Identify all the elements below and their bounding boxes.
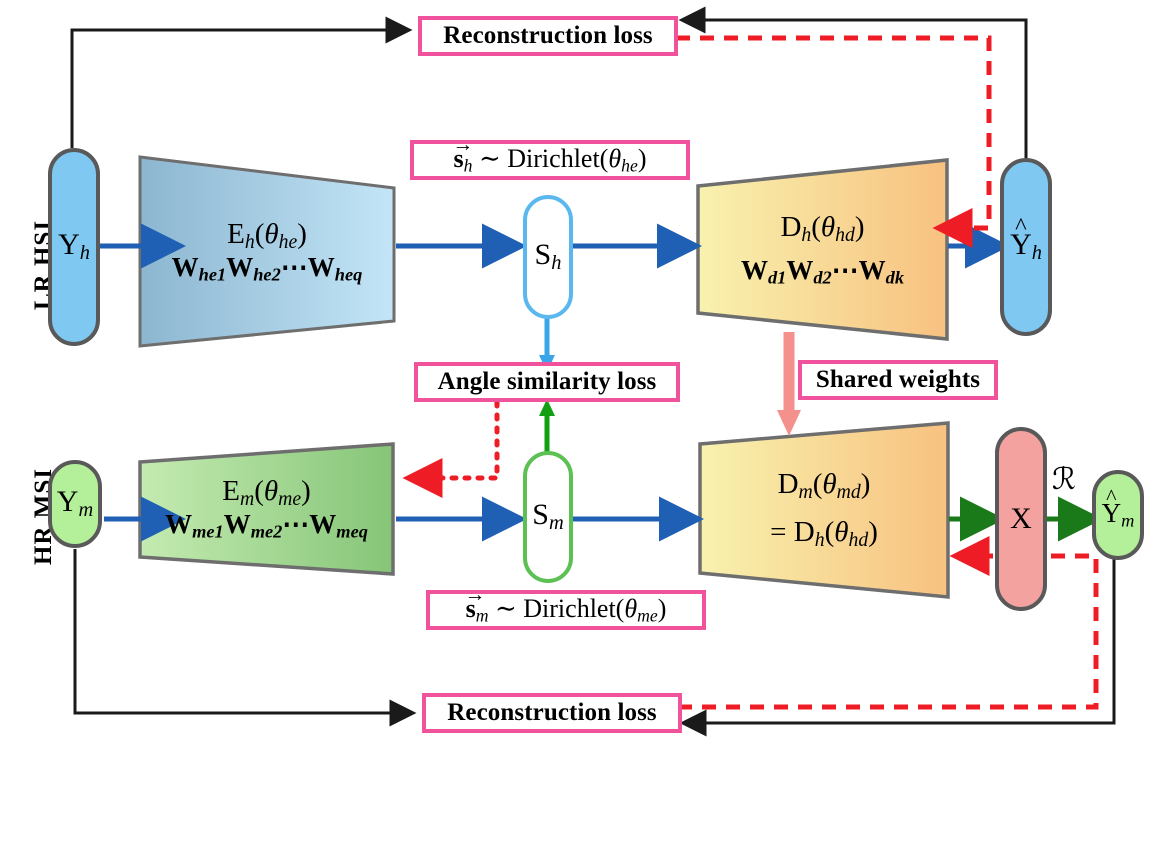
node-y-m-label: Ym (57, 487, 93, 521)
shared-weights-label: Shared weights (816, 366, 980, 394)
node-yhat-h[interactable]: Y^h (1000, 158, 1052, 336)
encoder-m-function: Em(θme) (222, 476, 311, 510)
decoder-h-block[interactable]: Dh(θhd) Wd1Wd2⋯Wdk (698, 160, 947, 340)
node-x[interactable]: X (995, 427, 1047, 611)
decoder-h-weights: Wd1Wd2⋯Wdk (741, 256, 904, 288)
node-s-h[interactable]: Sh (523, 195, 573, 319)
node-yhat-h-label: Y^h (1010, 230, 1042, 264)
node-s-m[interactable]: Sm (523, 451, 573, 583)
sm-to-angle-loss-arrow (539, 399, 555, 452)
decoder-m-shared-function: = Dh(θhd) (770, 517, 878, 551)
dirichlet-m-label: →sm ∼ Dirichlet(θme) (466, 594, 667, 626)
reconstruction-loss-bottom-box[interactable]: Reconstruction loss (422, 693, 682, 733)
dirichlet-h-box[interactable]: →sh ∼ Dirichlet(θhe) (410, 140, 690, 180)
node-y-h[interactable]: Yh (48, 148, 100, 346)
diagram-canvas: LR HSI HR MSI Yh Sh Y^h Ym Sm X Y^m Eh(θ… (0, 0, 1152, 855)
node-y-h-label: Yh (58, 230, 90, 264)
reconstruction-loss-bottom-label: Reconstruction loss (447, 699, 657, 727)
gradient-path-angle-loss (410, 402, 497, 478)
degradation-operator-symbol: ℛ (1052, 462, 1076, 497)
encoder-h-function: Eh(θhe) (227, 219, 307, 253)
reconstruction-loss-top-box[interactable]: Reconstruction loss (418, 16, 678, 56)
shared-weights-box[interactable]: Shared weights (798, 360, 998, 400)
angle-similarity-loss-label: Angle similarity loss (438, 368, 657, 396)
node-yhat-m[interactable]: Y^m (1092, 470, 1144, 560)
encoder-m-block[interactable]: Em(θme) Wme1Wme2⋯Wmeq (140, 444, 393, 574)
node-s-h-label: Sh (535, 240, 562, 274)
decoder-h-function: Dh(θhd) (780, 212, 864, 246)
node-s-m-label: Sm (532, 500, 563, 534)
node-y-m[interactable]: Ym (48, 460, 102, 548)
decoder-m-function: Dm(θmd) (778, 469, 871, 503)
encoder-m-weights: Wme1Wme2⋯Wmeq (165, 510, 368, 542)
dirichlet-h-label: →sh ∼ Dirichlet(θhe) (454, 144, 647, 176)
encoder-h-weights: Whe1Whe2⋯Wheq (172, 253, 363, 285)
decoder-m-block[interactable]: Dm(θmd) = Dh(θhd) (700, 423, 948, 597)
node-x-label: X (1010, 504, 1032, 534)
node-yhat-m-label: Y^m (1102, 500, 1135, 530)
reconstruction-loss-top-label: Reconstruction loss (443, 22, 653, 50)
encoder-h-block[interactable]: Eh(θhe) Whe1Whe2⋯Wheq (140, 157, 394, 347)
angle-similarity-loss-box[interactable]: Angle similarity loss (414, 362, 680, 402)
dirichlet-m-box[interactable]: →sm ∼ Dirichlet(θme) (426, 590, 706, 630)
